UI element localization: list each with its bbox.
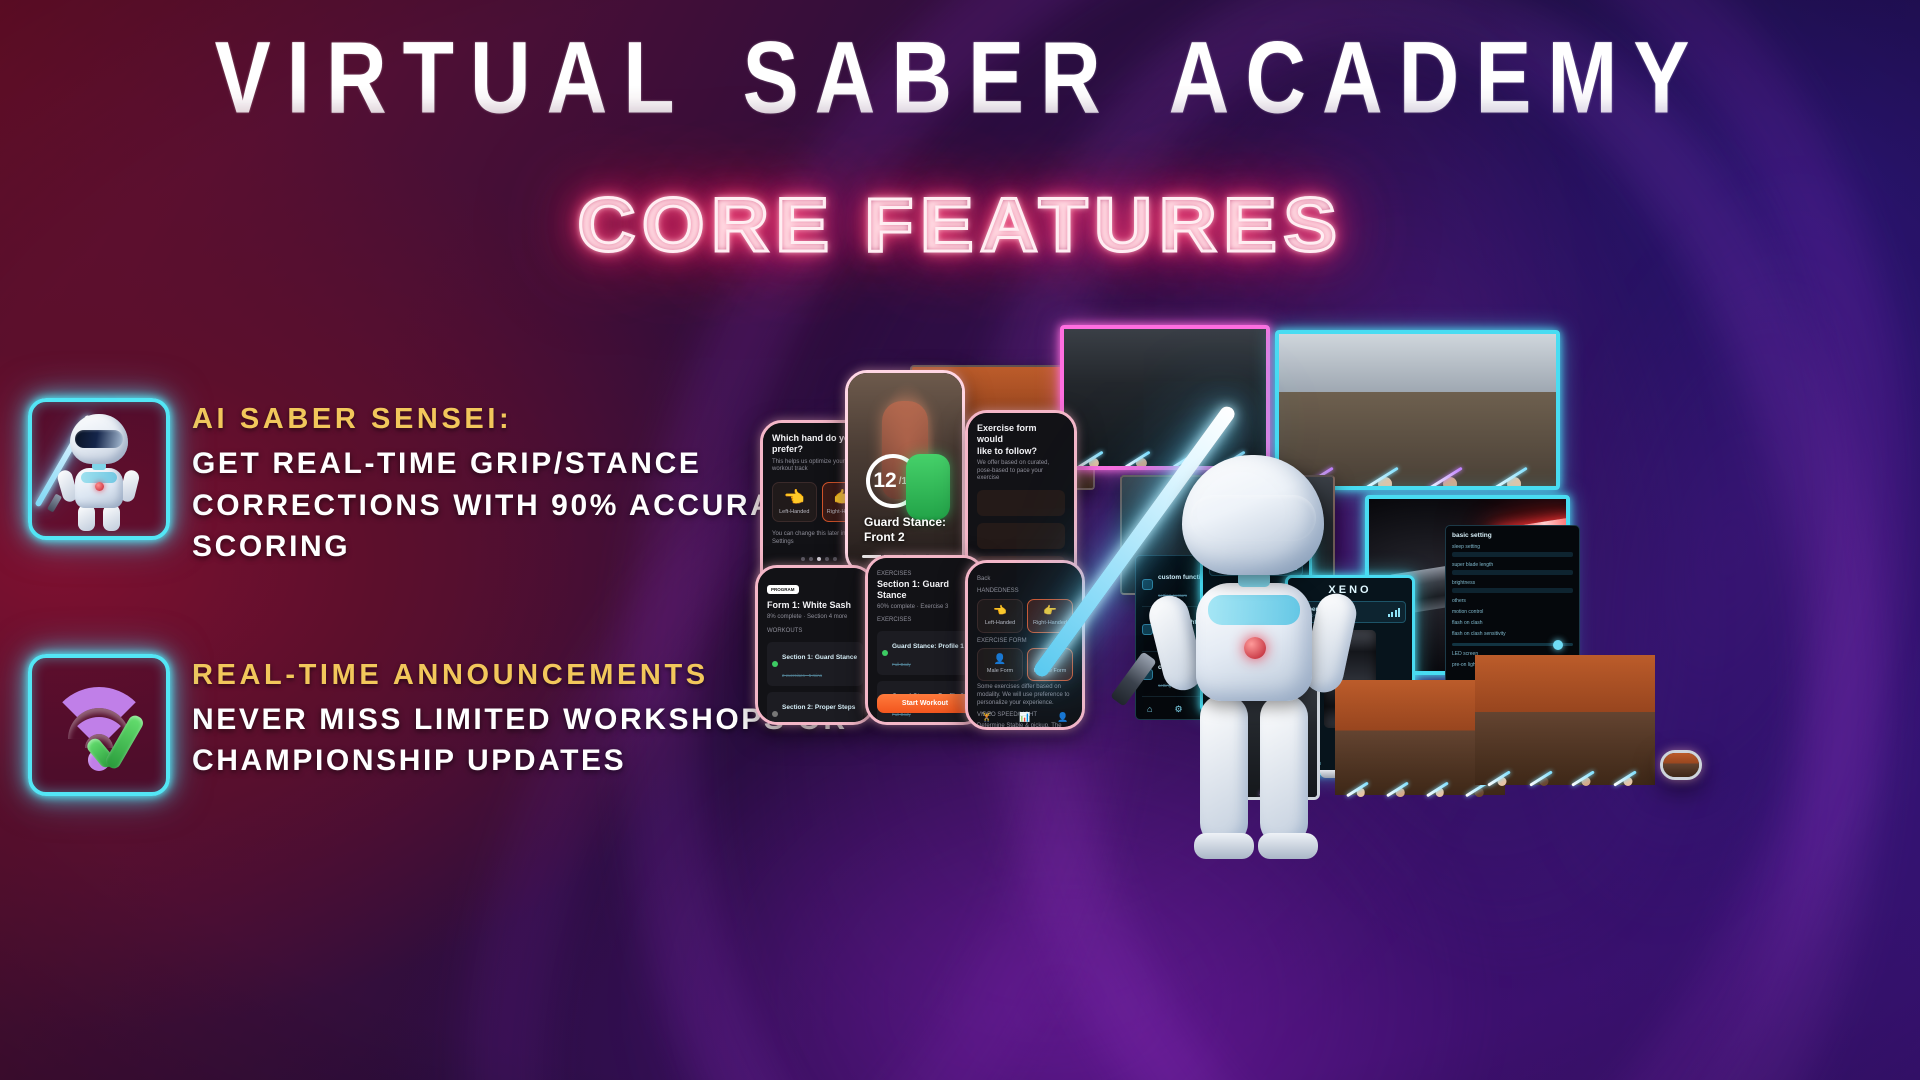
status-dot-icon xyxy=(772,711,778,717)
section-row[interactable]: Section 1: Guard Stance2 exercises · 5 m… xyxy=(767,642,863,686)
settings-title: basic setting xyxy=(1452,532,1573,539)
bottom-nav[interactable]: 🏋 📊 👤 xyxy=(968,712,1082,723)
monitor-device xyxy=(1475,655,1655,785)
section-subtitle-wrap: CORE FEATURES xyxy=(0,182,1920,269)
brand-title-wrap: VIRTUALSABERACADEMY xyxy=(0,26,1920,110)
stance-label: Guard Stance: Front 2 xyxy=(864,515,946,544)
male-form-option[interactable]: 👤Male Form xyxy=(977,648,1023,681)
left-handed-option[interactable]: 👈Left-Handed xyxy=(977,599,1023,633)
hand-left-icon: 👈 xyxy=(777,489,812,506)
small-phone-device xyxy=(1660,750,1702,780)
form-indicator xyxy=(906,454,950,520)
stance-phone[interactable]: 12/15 Guard Stance: Front 2 xyxy=(845,370,965,575)
section-row[interactable]: Section 2: Proper Steps3x slide base · 0… xyxy=(767,692,863,725)
vr-visor xyxy=(1190,495,1316,541)
program-phone[interactable]: PROGRAM Form 1: White Sash 8% complete ·… xyxy=(755,565,875,725)
wifi-check-icon xyxy=(28,654,170,796)
tab-account[interactable]: 👤 xyxy=(1057,712,1068,723)
section-title: Section 1: Guard Stance xyxy=(877,579,973,602)
program-title: Form 1: White Sash xyxy=(767,600,863,611)
status-dot-icon xyxy=(772,661,778,667)
check-icon xyxy=(89,715,145,771)
robot-saber-icon xyxy=(28,398,170,540)
exercise-row[interactable]: Guard Stance: Profile 1Full Body xyxy=(877,631,973,675)
poster-canvas: VIRTUALSABERACADEMY CORE FEATURES AI SAB… xyxy=(0,0,1920,1080)
form-option-card[interactable] xyxy=(977,523,1065,549)
signal-icon xyxy=(1388,608,1401,617)
program-badge: PROGRAM xyxy=(767,585,799,594)
tab-stats[interactable]: 📊 xyxy=(1019,712,1030,723)
program-meta: 8% complete · Section 4 more xyxy=(767,614,863,622)
form-option-card[interactable] xyxy=(977,490,1065,516)
mascot-robot xyxy=(1150,455,1380,885)
section-subtitle: CORE FEATURES xyxy=(577,182,1343,269)
back-button[interactable]: Back xyxy=(977,576,1073,584)
left-handed-option[interactable]: 👈 Left-Handed xyxy=(772,482,817,522)
sensitivity-slider[interactable] xyxy=(1452,643,1573,646)
tab-workouts[interactable]: 🏋 xyxy=(981,712,992,723)
start-workout-button[interactable]: Start Workout xyxy=(877,694,973,713)
brand-title: VIRTUALSABERACADEMY xyxy=(215,26,1706,128)
dojo-photo-tile xyxy=(1060,325,1270,470)
